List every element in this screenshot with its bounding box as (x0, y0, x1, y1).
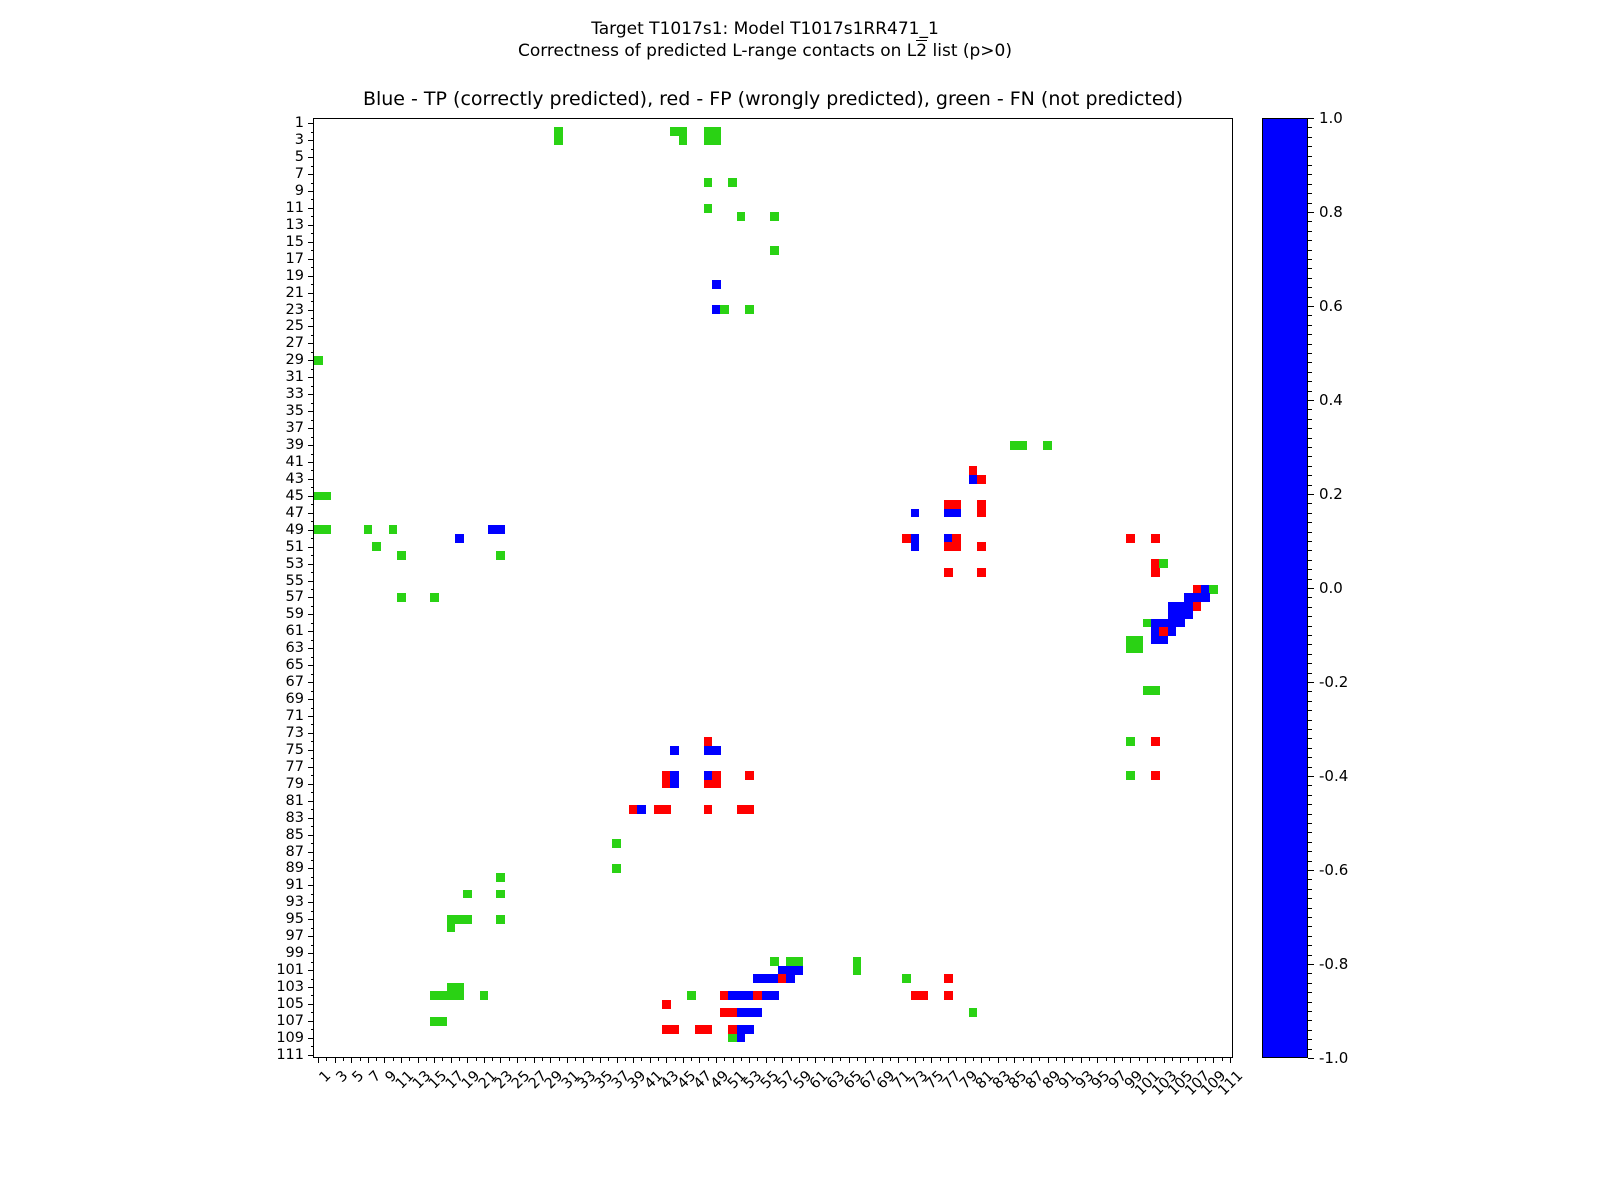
colorbar-minor-tick-mark (1308, 1002, 1312, 1003)
x-tick-mark (484, 1057, 485, 1063)
colorbar-minor-tick-mark (1308, 137, 1312, 138)
x-tick-mark (401, 1057, 402, 1063)
colorbar-minor-tick-mark (1308, 757, 1312, 758)
heatmap-cell (463, 890, 472, 899)
colorbar-minor-tick-mark (1308, 391, 1312, 392)
colorbar-tick-mark (1308, 118, 1314, 119)
heatmap-cell (770, 246, 779, 255)
y-tick-mark (311, 741, 315, 742)
y-tick-mark (311, 860, 315, 861)
colorbar-minor-tick-mark (1308, 513, 1312, 514)
x-tick-mark (641, 1057, 642, 1061)
heatmap-cell (554, 136, 563, 145)
x-tick-mark (907, 1057, 908, 1061)
y-tick-label: 3 (295, 132, 304, 148)
heatmap-cell (496, 551, 505, 560)
contact-map-plot: 1357911131517192123252729313335373941434… (313, 118, 1233, 1058)
x-tick-mark (965, 1057, 966, 1063)
heatmap-cell (463, 915, 472, 924)
y-tick-label: 89 (286, 860, 304, 876)
x-tick-mark (733, 1057, 734, 1063)
x-tick-mark (1147, 1057, 1148, 1063)
colorbar-minor-tick-mark (1308, 193, 1312, 194)
x-tick-mark (1164, 1057, 1165, 1063)
x-tick-mark (625, 1057, 626, 1061)
x-tick-mark (617, 1057, 618, 1063)
y-tick-mark (308, 835, 314, 836)
y-tick-mark (308, 1055, 314, 1056)
y-tick-mark (308, 852, 314, 853)
y-tick-label: 93 (286, 894, 304, 910)
y-tick-label: 37 (286, 420, 304, 436)
y-tick-mark (308, 868, 314, 869)
heatmap-cell (1043, 441, 1052, 450)
y-tick-mark (308, 343, 314, 344)
colorbar-tick-mark (1308, 1058, 1314, 1059)
colorbar-minor-tick-mark (1308, 362, 1312, 363)
y-tick-mark (311, 521, 315, 522)
y-tick-label: 91 (286, 877, 304, 893)
colorbar-minor-tick-mark (1308, 832, 1312, 833)
colorbar-minor-tick-mark (1308, 250, 1312, 251)
heatmap-cell (720, 305, 729, 314)
colorbar-minor-tick-mark (1308, 654, 1312, 655)
y-tick-mark (311, 538, 315, 539)
y-tick-mark (311, 826, 315, 827)
colorbar-minor-tick-mark (1308, 466, 1312, 467)
y-tick-mark (311, 894, 315, 895)
y-tick-mark (311, 758, 315, 759)
colorbar-minor-tick-mark (1308, 879, 1312, 880)
x-tick-mark (434, 1057, 435, 1063)
y-tick-label: 109 (276, 1030, 304, 1046)
heatmap-cell (977, 542, 986, 551)
colorbar-minor-tick-mark (1308, 353, 1312, 354)
colorbar-minor-tick-mark (1308, 992, 1312, 993)
x-tick-label: 3 (333, 1068, 351, 1086)
heatmap-cell (1126, 534, 1135, 543)
y-tick-mark (308, 682, 314, 683)
colorbar-minor-tick-mark (1308, 936, 1312, 937)
x-tick-mark (592, 1057, 593, 1061)
x-tick-mark (1023, 1057, 1024, 1061)
y-tick-mark (308, 191, 314, 192)
colorbar-minor-tick-mark (1308, 926, 1312, 927)
x-tick-mark (525, 1057, 526, 1061)
heatmap-cell (1209, 585, 1218, 594)
y-tick-mark (311, 183, 315, 184)
x-tick-mark (1056, 1057, 1057, 1061)
heatmap-cell (977, 509, 986, 518)
figure-titles: Target T1017s1: Model T1017s1RR471_1 Cor… (0, 18, 1530, 62)
heatmap-cell (670, 780, 679, 789)
x-tick-mark (791, 1057, 792, 1061)
y-tick-label: 95 (286, 911, 304, 927)
colorbar-minor-tick-mark (1308, 221, 1312, 222)
heatmap-cell (455, 983, 464, 992)
colorbar-minor-tick-mark (1308, 738, 1312, 739)
colorbar-minor-tick-mark (1308, 325, 1312, 326)
y-tick-mark (311, 454, 315, 455)
y-tick-mark (311, 487, 315, 488)
y-tick-label: 97 (286, 928, 304, 944)
colorbar-minor-tick-mark (1308, 315, 1312, 316)
x-tick-mark (384, 1057, 385, 1063)
heatmap-cell (455, 991, 464, 1000)
x-tick-mark (724, 1057, 725, 1061)
y-tick-mark (311, 809, 315, 810)
heatmap-cell (1151, 534, 1160, 543)
colorbar-tick-mark (1308, 306, 1314, 307)
x-tick-mark (1039, 1057, 1040, 1061)
colorbar-minor-tick-mark (1308, 823, 1312, 824)
y-tick-mark (311, 979, 315, 980)
x-tick-mark (600, 1057, 601, 1063)
heatmap-cell (687, 991, 696, 1000)
y-tick-mark (308, 479, 314, 480)
colorbar-minor-tick-mark (1308, 1020, 1312, 1021)
heatmap-cell (480, 991, 489, 1000)
x-tick-mark (1081, 1057, 1082, 1063)
x-tick-mark (351, 1057, 352, 1063)
y-tick-mark (311, 420, 315, 421)
x-tick-mark (666, 1057, 667, 1063)
y-tick-label: 105 (276, 996, 304, 1012)
y-tick-mark (311, 318, 315, 319)
colorbar-tick-label: -1.0 (1319, 1049, 1348, 1067)
y-tick-label: 51 (286, 539, 304, 555)
y-tick-label: 103 (276, 979, 304, 995)
y-tick-label: 79 (286, 776, 304, 792)
colorbar-minor-tick-mark (1308, 1039, 1312, 1040)
x-tick-mark (1172, 1057, 1173, 1061)
heatmap-cell (1168, 627, 1177, 636)
x-tick-mark (1130, 1057, 1131, 1063)
heatmap-cell (397, 593, 406, 602)
x-tick-mark (534, 1057, 535, 1063)
colorbar-minor-tick-mark (1308, 428, 1312, 429)
colorbar-minor-tick-mark (1308, 278, 1312, 279)
subtitle-suffix: list (p>0) (927, 41, 1012, 61)
x-tick-mark (832, 1057, 833, 1063)
x-tick-mark (376, 1057, 377, 1061)
colorbar-minor-tick-mark (1308, 917, 1312, 918)
x-tick-mark (633, 1057, 634, 1063)
y-tick-label: 29 (286, 352, 304, 368)
heatmap-cell (389, 525, 398, 534)
heatmap-cell (737, 1034, 746, 1043)
colorbar-minor-tick-mark (1308, 409, 1312, 410)
x-tick-mark (393, 1057, 394, 1061)
y-tick-mark (308, 750, 314, 751)
x-tick-mark (500, 1057, 501, 1063)
heatmap-cell (712, 780, 721, 789)
x-tick-mark (476, 1057, 477, 1061)
x-tick-mark (931, 1057, 932, 1063)
x-tick-mark (675, 1057, 676, 1061)
x-tick-mark (749, 1057, 750, 1063)
x-tick-mark (451, 1057, 452, 1063)
x-tick-mark (989, 1057, 990, 1061)
colorbar-minor-tick-mark (1308, 494, 1312, 495)
x-tick-mark (857, 1057, 858, 1061)
x-tick-mark (807, 1057, 808, 1061)
heatmap-cell (770, 991, 779, 1000)
figure-title: Target T1017s1: Model T1017s1RR471_1 (0, 18, 1530, 40)
x-tick-mark (1205, 1057, 1206, 1061)
y-tick-label: 19 (286, 268, 304, 284)
x-tick-mark (343, 1057, 344, 1061)
colorbar-minor-tick-mark (1308, 560, 1312, 561)
colorbar-tick-mark (1308, 588, 1314, 589)
heatmap-cell (1201, 593, 1210, 602)
y-tick-mark (308, 818, 314, 819)
colorbar-minor-tick-mark (1308, 156, 1312, 157)
y-tick-mark (308, 259, 314, 260)
x-tick-mark (467, 1057, 468, 1063)
colorbar-minor-tick-mark (1308, 908, 1312, 909)
colorbar-minor-tick-mark (1308, 795, 1312, 796)
y-tick-label: 63 (286, 640, 304, 656)
y-tick-mark (311, 572, 315, 573)
y-tick-label: 83 (286, 810, 304, 826)
heatmap-cell (745, 805, 754, 814)
y-tick-label: 41 (286, 454, 304, 470)
x-tick-mark (799, 1057, 800, 1063)
y-tick-mark (311, 674, 315, 675)
y-tick-label: 17 (286, 251, 304, 267)
y-tick-label: 5 (295, 149, 304, 165)
heatmap-cell (902, 974, 911, 983)
y-tick-mark (311, 877, 315, 878)
y-tick-label: 75 (286, 742, 304, 758)
heatmap-cell (770, 212, 779, 221)
heatmap-cell (753, 1008, 762, 1017)
y-tick-mark (308, 445, 314, 446)
y-tick-mark (308, 208, 314, 209)
colorbar-minor-tick-mark (1308, 240, 1312, 241)
colorbar-minor-tick-mark (1308, 344, 1312, 345)
heatmap-cell (704, 805, 713, 814)
y-tick-mark (311, 216, 315, 217)
y-tick-mark (311, 792, 315, 793)
y-tick-mark (308, 547, 314, 548)
subtitle-fraction-denominator: 2 (916, 40, 927, 61)
y-tick-label: 59 (286, 606, 304, 622)
colorbar-minor-tick-mark (1308, 381, 1312, 382)
colorbar-minor-tick-mark (1308, 767, 1312, 768)
heatmap-cell (430, 593, 439, 602)
x-tick-mark (840, 1057, 841, 1061)
y-tick-label: 107 (276, 1013, 304, 1029)
y-tick-mark (308, 902, 314, 903)
heatmap-cell (314, 356, 323, 365)
colorbar-minor-tick-mark (1308, 673, 1312, 674)
x-tick-mark (1006, 1057, 1007, 1061)
colorbar-tick-label: -0.8 (1319, 955, 1348, 973)
y-tick-mark (311, 149, 315, 150)
y-tick-mark (311, 470, 315, 471)
y-tick-label: 33 (286, 386, 304, 402)
heatmap-cell (438, 1017, 447, 1026)
subtitle-prefix: Correctness of predicted L-range contact… (518, 41, 916, 61)
colorbar-minor-tick-mark (1308, 419, 1312, 420)
colorbar-minor-tick-mark (1308, 532, 1312, 533)
y-tick-mark (311, 775, 315, 776)
x-tick-mark (1122, 1057, 1123, 1061)
colorbar-minor-tick-mark (1308, 814, 1312, 815)
colorbar-tick-mark (1308, 870, 1314, 871)
colorbar-minor-tick-mark (1308, 400, 1312, 401)
x-tick-mark (782, 1057, 783, 1063)
colorbar-minor-tick-mark (1308, 259, 1312, 260)
heatmap-cell (364, 525, 373, 534)
x-tick-mark (865, 1057, 866, 1063)
x-tick-mark (575, 1057, 576, 1061)
y-tick-mark (308, 936, 314, 937)
y-tick-label: 35 (286, 403, 304, 419)
heatmap-cell (1126, 771, 1135, 780)
y-tick-mark (308, 530, 314, 531)
x-tick-mark (1155, 1057, 1156, 1061)
colorbar-minor-tick-mark (1308, 522, 1312, 523)
y-tick-mark (308, 225, 314, 226)
heatmap-cell (1176, 619, 1185, 628)
colorbar-minor-tick-mark (1308, 898, 1312, 899)
colorbar-tick-label: 1.0 (1319, 109, 1343, 127)
x-tick-mark (559, 1057, 560, 1061)
y-tick-mark (308, 970, 314, 971)
y-tick-label: 85 (286, 827, 304, 843)
y-tick-mark (308, 310, 314, 311)
colorbar-minor-tick-mark (1308, 550, 1312, 551)
y-tick-mark (311, 657, 315, 658)
y-tick-mark (311, 623, 315, 624)
colorbar-minor-tick-mark (1308, 503, 1312, 504)
heatmap-cell (372, 542, 381, 551)
y-tick-mark (311, 691, 315, 692)
y-tick-mark (311, 301, 315, 302)
colorbar-minor-tick-mark (1308, 616, 1312, 617)
y-tick-label: 81 (286, 793, 304, 809)
colorbar-minor-tick-mark (1308, 297, 1312, 298)
x-tick-mark (650, 1057, 651, 1063)
y-tick-mark (308, 377, 314, 378)
colorbar-minor-tick-mark (1308, 203, 1312, 204)
x-tick-mark (998, 1057, 999, 1063)
colorbar-minor-tick-mark (1308, 889, 1312, 890)
heatmap-cell (704, 1025, 713, 1034)
colorbar-tick-label: 0.6 (1319, 297, 1343, 315)
heatmap-cell (944, 568, 953, 577)
colorbar-tick-mark (1308, 212, 1314, 213)
colorbar-minor-tick-mark (1308, 447, 1312, 448)
heatmap-cell (447, 924, 456, 933)
x-tick-mark (1072, 1057, 1073, 1061)
colorbar-minor-tick-mark (1308, 579, 1312, 580)
colorbar-minor-tick-mark (1308, 701, 1312, 702)
heatmap-cell (662, 1000, 671, 1009)
heatmap-cell (969, 1008, 978, 1017)
y-tick-mark (308, 631, 314, 632)
y-tick-mark (308, 513, 314, 514)
colorbar-minor-tick-mark (1308, 729, 1312, 730)
colorbar-minor-tick-mark (1308, 438, 1312, 439)
y-tick-mark (308, 597, 314, 598)
y-tick-label: 87 (286, 844, 304, 860)
x-tick-mark (608, 1057, 609, 1061)
x-tick-mark (326, 1057, 327, 1061)
x-tick-label: 5 (350, 1068, 368, 1086)
y-tick-mark (308, 665, 314, 666)
y-tick-mark (308, 953, 314, 954)
colorbar-minor-tick-mark (1308, 983, 1312, 984)
heatmap-cell (1193, 602, 1202, 611)
colorbar-minor-tick-mark (1308, 475, 1312, 476)
x-tick-mark (409, 1057, 410, 1061)
colorbar-minor-tick-mark (1308, 973, 1312, 974)
y-tick-mark (308, 1038, 314, 1039)
heatmap-cell (704, 178, 713, 187)
y-tick-mark (311, 166, 315, 167)
x-tick-mark (1089, 1057, 1090, 1061)
y-tick-mark (308, 648, 314, 649)
colorbar-minor-tick-mark (1308, 268, 1312, 269)
y-tick-label: 55 (286, 573, 304, 589)
colorbar-minor-tick-mark (1308, 287, 1312, 288)
y-tick-label: 111 (276, 1047, 304, 1063)
heatmap-cell (1184, 610, 1193, 619)
colorbar-minor-tick-mark (1308, 635, 1312, 636)
heatmap-cell (397, 551, 406, 560)
y-tick-mark (308, 411, 314, 412)
x-tick-mark (426, 1057, 427, 1061)
y-tick-mark (311, 843, 315, 844)
y-tick-mark (311, 640, 315, 641)
y-tick-mark (311, 911, 315, 912)
x-tick-mark (658, 1057, 659, 1061)
heatmap-cell (670, 746, 679, 755)
x-tick-mark (1097, 1057, 1098, 1063)
y-tick-label: 71 (286, 708, 304, 724)
colorbar-minor-tick-mark (1308, 691, 1312, 692)
y-tick-mark (311, 995, 315, 996)
y-tick-label: 43 (286, 471, 304, 487)
heatmap-cell (728, 178, 737, 187)
colorbar-minor-tick-mark (1308, 644, 1312, 645)
x-tick-mark (418, 1057, 419, 1063)
x-tick-mark (567, 1057, 568, 1063)
y-tick-mark (308, 326, 314, 327)
heatmap-cell (1151, 568, 1160, 577)
x-tick-mark (882, 1057, 883, 1063)
heatmap-cell (712, 280, 721, 289)
colorbar-minor-tick-mark (1308, 146, 1312, 147)
y-tick-mark (308, 462, 314, 463)
y-tick-label: 31 (286, 369, 304, 385)
heatmap-cell (637, 805, 646, 814)
heatmap-cell (496, 915, 505, 924)
heatmap-cell (1159, 636, 1168, 645)
y-tick-mark (308, 1021, 314, 1022)
y-tick-mark (308, 581, 314, 582)
x-tick-mark (915, 1057, 916, 1063)
x-tick-mark (774, 1057, 775, 1061)
x-tick-mark (873, 1057, 874, 1061)
x-tick-mark (948, 1057, 949, 1063)
y-tick-mark (308, 496, 314, 497)
y-tick-label: 73 (286, 725, 304, 741)
